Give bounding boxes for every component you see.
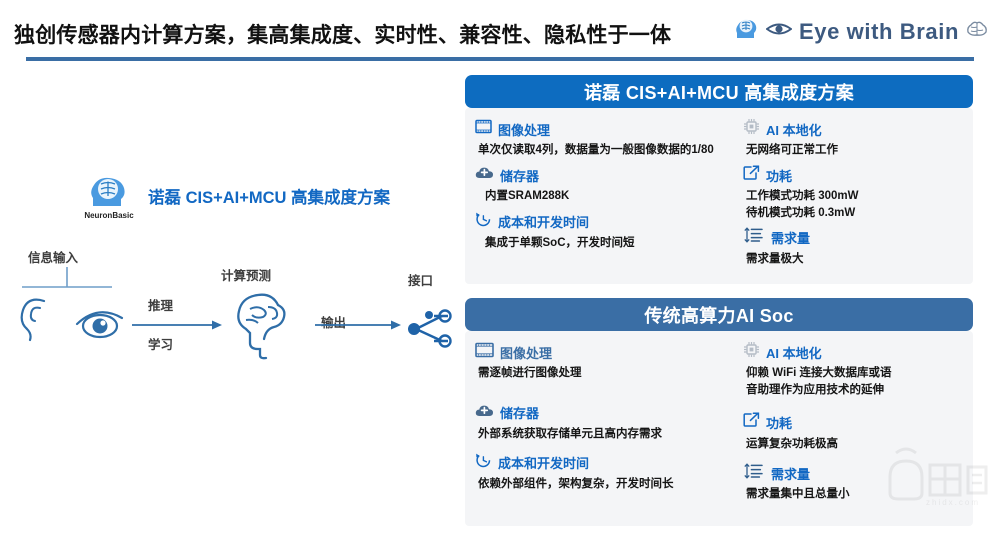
diagram-logo-title: 诺磊 CIS+AI+MCU 高集成度方案 [148, 184, 390, 208]
external-link-icon [743, 165, 760, 186]
feature-cost-and-dev-time: 成本和开发时间 依赖外部组件，架构复杂，开发时间长 [475, 453, 717, 499]
comparison-panels: 诺磊 CIS+AI+MCU 高集成度方案 图像处理 单 [465, 75, 973, 540]
flow-label-interface: 接口 [408, 270, 433, 289]
neuron-head-logo-icon: NeuronBasic [78, 172, 140, 220]
arrow-right-icon [132, 318, 224, 336]
feature-desc: 需求量极大 [723, 251, 965, 267]
panel-column-right: AI 本地化 无网络可正常工作 功耗 [723, 119, 965, 274]
feature-desc: 集成于单颗SoC，开发时间短 [475, 235, 717, 251]
feature-title: 成本和开发时间 [498, 212, 589, 231]
panel-column-right: AI 本地化 仰赖 WiFi 连接大数据库或语 音助理作为应用技术的延伸 [723, 342, 965, 509]
header-divider [26, 57, 974, 61]
page-title: 独创传感器内计算方案，集高集成度、实时性、兼容性、隐私性于一体 [14, 19, 671, 49]
clock-history-icon [475, 452, 492, 473]
feature-ai-localization: AI 本地化 无网络可正常工作 [723, 119, 965, 165]
feature-demand-volume: 需求量 需求量集中且总量小 [723, 463, 965, 509]
feature-cost-and-dev-time: 成本和开发时间 集成于单颗SoC，开发时间短 [475, 212, 717, 258]
feature-title: 需求量 [771, 228, 810, 247]
eye-icon [766, 20, 792, 43]
panel-column-left: 图像处理 需逐帧进行图像处理 储存器 外部系统获取存 [475, 342, 717, 509]
feature-storage: 储存器 内置SRAM288K [475, 165, 717, 211]
feature-image-processing: 图像处理 需逐帧进行图像处理 [475, 342, 717, 388]
panel-title-traditional: 传统高算力AI Soc [465, 298, 973, 331]
flow-label-prediction: 计算预测 [221, 265, 271, 284]
brain-mark-icon [966, 20, 988, 43]
feature-title: 储存器 [500, 166, 539, 185]
clock-history-icon [475, 211, 492, 232]
brand-lockup: Eye with Brain [733, 16, 988, 47]
feature-title: 成本和开发时间 [498, 453, 589, 472]
feature-image-processing: 图像处理 单次仅读取4列，数据量为一般图像数据的1/80 [475, 119, 717, 165]
feature-desc: 内置SRAM288K [475, 188, 717, 204]
flow-label-inference: 推理 [148, 295, 173, 314]
cpu-chip-icon [743, 118, 760, 140]
flow-label-learning: 学习 [148, 334, 173, 353]
feature-title: 储存器 [500, 403, 539, 422]
panel-body-noralogic: 图像处理 单次仅读取4列，数据量为一般图像数据的1/80 储存器 [465, 108, 973, 284]
feature-title: 图像处理 [500, 343, 552, 362]
film-frame-icon [475, 119, 492, 139]
feature-desc: 依赖外部组件，架构复杂，开发时间长 [475, 476, 717, 492]
feature-desc: 需逐帧进行图像处理 [475, 365, 717, 381]
cloud-plus-icon [475, 165, 494, 185]
panel-title-noralogic: 诺磊 CIS+AI+MCU 高集成度方案 [465, 75, 973, 108]
feature-title: AI 本地化 [766, 120, 822, 139]
flow-label-input: 信息输入 [28, 247, 78, 266]
feature-ai-localization: AI 本地化 仰赖 WiFi 连接大数据库或语 音助理作为应用技术的延伸 [723, 342, 965, 405]
brand-name: Eye with Brain [799, 19, 959, 45]
feature-title: 功耗 [766, 413, 792, 432]
sort-list-icon [743, 463, 765, 484]
feature-desc: 工作模式功耗 300mW 待机模式功耗 0.3mW [723, 188, 965, 221]
panel-noralogic: 诺磊 CIS+AI+MCU 高集成度方案 图像处理 单 [465, 75, 973, 284]
feature-power-consumption: 功耗 工作模式功耗 300mW 待机模式功耗 0.3mW [723, 165, 965, 228]
diagram-logo-row: NeuronBasic 诺磊 CIS+AI+MCU 高集成度方案 [78, 172, 390, 220]
ear-icon [14, 295, 56, 348]
panel-traditional: 传统高算力AI Soc 图像处理 需逐帧进行图像处理 [465, 298, 973, 525]
brain-head-icon [733, 16, 759, 47]
cloud-plus-icon [475, 403, 494, 423]
external-link-icon [743, 412, 760, 433]
panel-column-left: 图像处理 单次仅读取4列，数据量为一般图像数据的1/80 储存器 [475, 119, 717, 274]
feature-storage: 储存器 外部系统获取存储单元且高内存需求 [475, 403, 717, 449]
eye-outline-icon [74, 302, 126, 347]
panel-body-traditional: 图像处理 需逐帧进行图像处理 储存器 外部系统获取存 [465, 331, 973, 525]
feature-title: 功耗 [766, 166, 792, 185]
feature-title: AI 本地化 [766, 343, 822, 362]
feature-desc: 运算复杂功耗极高 [723, 436, 965, 452]
left-flow-diagram: NeuronBasic 诺磊 CIS+AI+MCU 高集成度方案 信息输入 推理… [0, 62, 462, 525]
feature-title: 图像处理 [498, 120, 550, 139]
feature-desc: 仰赖 WiFi 连接大数据库或语 音助理作为应用技术的延伸 [723, 365, 965, 398]
slide-header: 独创传感器内计算方案，集高集成度、实时性、兼容性、隐私性于一体 Eye with… [0, 0, 1000, 62]
brain-profile-icon [230, 289, 298, 366]
sort-list-icon [743, 227, 765, 248]
film-frame-icon [475, 342, 494, 363]
logo-caption: NeuronBasic [84, 211, 133, 220]
feature-title: 需求量 [771, 464, 810, 483]
feature-desc: 无网络可正常工作 [723, 142, 965, 158]
feature-desc: 外部系统获取存储单元且高内存需求 [475, 426, 717, 442]
feature-power-consumption: 功耗 运算复杂功耗极高 [723, 413, 965, 459]
feature-desc: 需求量集中且总量小 [723, 486, 965, 502]
node-share-icon [404, 307, 456, 356]
feature-demand-volume: 需求量 需求量极大 [723, 228, 965, 274]
feature-desc: 单次仅读取4列，数据量为一般图像数据的1/80 [475, 142, 717, 158]
arrow-right-icon [315, 318, 403, 336]
cpu-chip-icon [743, 341, 760, 363]
